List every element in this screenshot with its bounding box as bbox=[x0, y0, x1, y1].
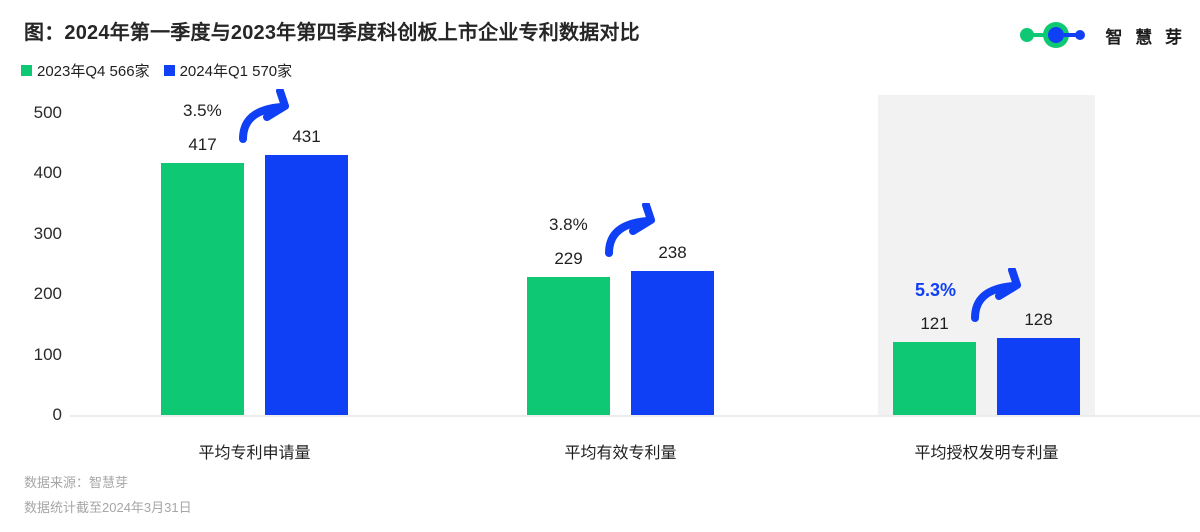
brand-name: 智 慧 芽 bbox=[1106, 23, 1186, 48]
bar[interactable] bbox=[161, 163, 244, 415]
bar[interactable] bbox=[527, 277, 610, 415]
x-axis-category-label: 平均有效专利量 bbox=[564, 439, 676, 463]
chart-legend: 2023年Q4 566家 2024年Q1 570家 bbox=[21, 60, 292, 81]
legend-swatch-icon bbox=[164, 65, 175, 76]
bar[interactable] bbox=[893, 342, 976, 415]
growth-percent-label: 3.5% bbox=[183, 101, 222, 121]
bar[interactable] bbox=[997, 338, 1080, 415]
bar-value-label: 121 bbox=[893, 314, 976, 334]
data-asof-text: 数据统计截至2024年3月31日 bbox=[24, 495, 192, 520]
chart-footer: 数据来源：智慧芽 数据统计截至2024年3月31日 bbox=[24, 470, 192, 520]
growth-arrow-icon bbox=[237, 89, 303, 150]
x-axis-category-label: 平均专利申请量 bbox=[198, 439, 310, 463]
chart-page: 图：2024年第一季度与2023年第四季度科创板上市企业专利数据对比 智 慧 芽… bbox=[0, 0, 1200, 532]
x-axis-line bbox=[70, 415, 1200, 417]
y-axis-tick-label: 100 bbox=[8, 345, 62, 365]
bar-value-label: 417 bbox=[161, 135, 244, 155]
x-axis-category-label: 平均授权发明专利量 bbox=[914, 439, 1058, 463]
growth-arrow-icon bbox=[969, 268, 1035, 329]
growth-percent-label: 5.3% bbox=[915, 280, 956, 301]
zhihuiya-logo-icon bbox=[1020, 22, 1098, 48]
legend-item-0: 2023年Q4 566家 bbox=[21, 60, 150, 81]
y-axis-tick-label: 300 bbox=[8, 224, 62, 244]
brand-logo: 智 慧 芽 bbox=[1020, 22, 1186, 48]
bar-chart-plot: 0100200300400500417431平均专利申请量3.5%229238平… bbox=[0, 86, 1200, 431]
legend-item-1: 2024年Q1 570家 bbox=[164, 60, 293, 81]
bar-value-label: 229 bbox=[527, 249, 610, 269]
growth-arrow-icon bbox=[603, 203, 669, 264]
data-source-text: 数据来源：智慧芽 bbox=[24, 470, 192, 495]
legend-swatch-icon bbox=[21, 65, 32, 76]
legend-label: 2024年Q1 570家 bbox=[180, 60, 293, 81]
y-axis: 0100200300400500 bbox=[0, 86, 62, 431]
growth-percent-label: 3.8% bbox=[549, 215, 588, 235]
y-axis-tick-label: 200 bbox=[8, 284, 62, 304]
page-title: 图：2024年第一季度与2023年第四季度科创板上市企业专利数据对比 bbox=[24, 16, 640, 45]
bar[interactable] bbox=[265, 155, 348, 415]
legend-label: 2023年Q4 566家 bbox=[37, 60, 150, 81]
y-axis-tick-label: 0 bbox=[8, 405, 62, 425]
y-axis-tick-label: 400 bbox=[8, 163, 62, 183]
y-axis-tick-label: 500 bbox=[8, 103, 62, 123]
bar[interactable] bbox=[631, 271, 714, 415]
